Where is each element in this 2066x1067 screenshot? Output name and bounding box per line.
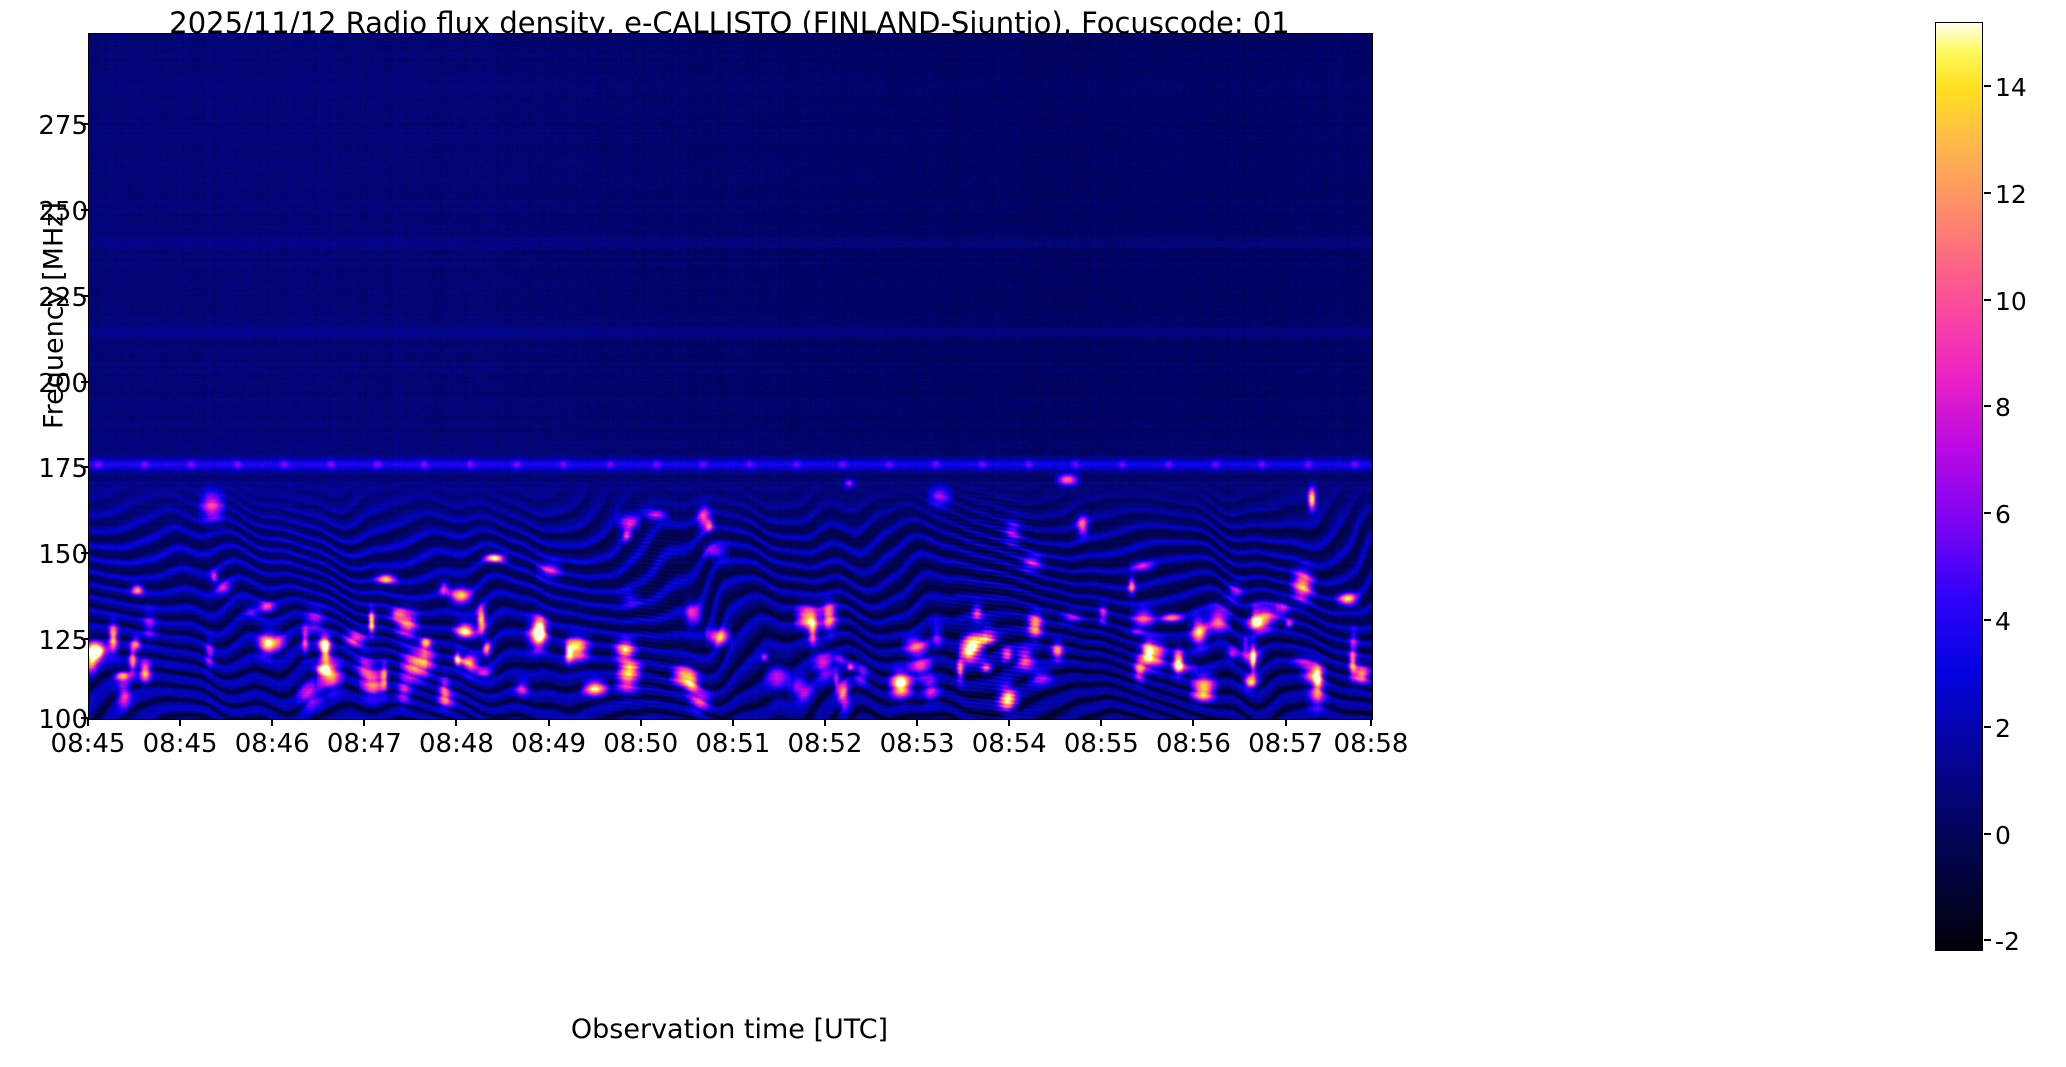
colorbar-tick-label: 12 (1995, 180, 2027, 209)
colorbar-tick-mark (1984, 619, 1991, 621)
colorbar-tick-label: 6 (1995, 500, 2011, 529)
colorbar-tick-mark (1984, 405, 1991, 407)
colorbar-tick-label: 4 (1995, 607, 2011, 636)
colorbar-tick-label: 0 (1995, 821, 2011, 850)
colorbar-tick-mark (1984, 726, 1991, 728)
colorbar-tick-mark (1984, 192, 1991, 194)
colorbar-tick-label: 8 (1995, 393, 2011, 422)
spectrogram-figure: 2025/11/12 Radio flux density, e-CALLIST… (0, 0, 2066, 1067)
colorbar-tick-label: 10 (1995, 287, 2027, 316)
colorbar-tick-mark (1984, 833, 1991, 835)
colorbar-tick-mark (1984, 85, 1991, 87)
colorbar-tick-label: 14 (1995, 73, 2027, 102)
colorbar-tick-mark (1984, 299, 1991, 301)
colorbar-tick-mark (1984, 939, 1991, 941)
colorbar-tick-label: -2 (1995, 927, 2020, 956)
colorbar-tick-mark (1984, 512, 1991, 514)
colorbar-tick-label: 2 (1995, 714, 2011, 743)
colorbar-ticks: -202468101214 (0, 0, 2066, 1067)
